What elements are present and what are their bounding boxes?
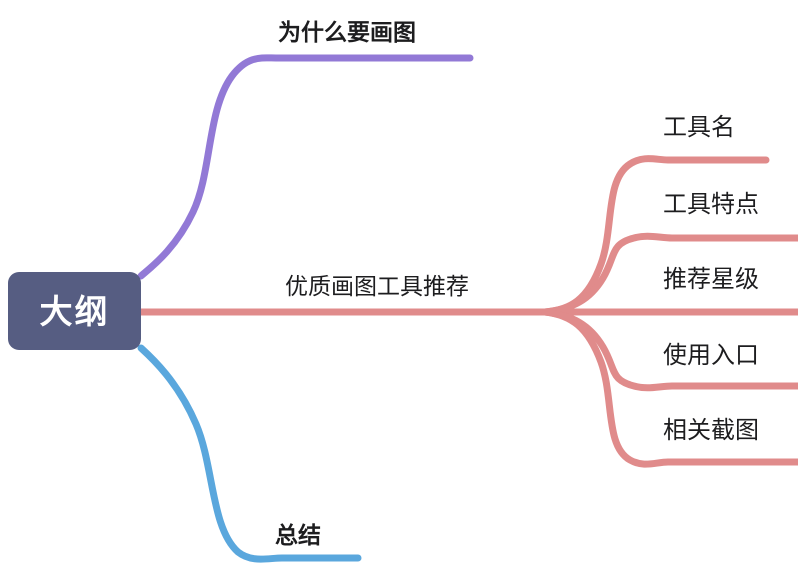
root-node-label: 大纲 <box>40 295 110 328</box>
branch-label-summary[interactable]: 总结 <box>275 524 321 547</box>
sub-branch-label-recommendation-rating[interactable]: 推荐星级 <box>663 268 759 292</box>
main-branch-paths <box>141 58 545 559</box>
branch-path-summary <box>141 348 358 559</box>
sub-branch-label-usage-entry[interactable]: 使用入口 <box>663 344 759 368</box>
branch-label-tool-recommendations[interactable]: 优质画图工具推荐 <box>285 275 469 298</box>
root-node[interactable]: 大纲 <box>8 272 141 350</box>
mindmap-canvas: 大纲 为什么要画图 优质画图工具推荐 总结 工具名 工具特点 推荐星级 使用入口… <box>0 0 798 568</box>
sub-branch-label-tool-name[interactable]: 工具名 <box>663 116 735 140</box>
branch-path-why-draw <box>141 58 470 276</box>
sub-branch-label-related-screenshots[interactable]: 相关截图 <box>663 419 759 443</box>
branch-label-why-draw[interactable]: 为什么要画图 <box>278 21 416 44</box>
sub-branch-label-tool-features[interactable]: 工具特点 <box>663 193 759 217</box>
